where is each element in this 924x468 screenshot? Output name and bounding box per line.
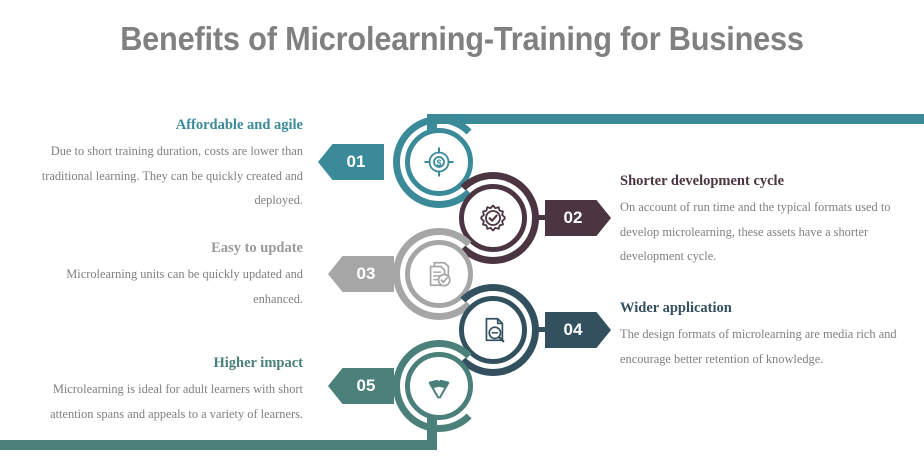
item-number-05: 05 (357, 376, 376, 396)
item-body-04: The design formats of microlearning are … (620, 322, 898, 370)
item-number-02: 02 (564, 208, 583, 228)
top-rail (437, 114, 924, 124)
item-heading-01: Affordable and agile (33, 117, 303, 134)
item-block-04: Wider application The design formats of … (620, 300, 898, 371)
crossed-flags-icon (415, 362, 463, 410)
item-body-01: Due to short training duration, costs ar… (33, 139, 303, 212)
bottom-rail (0, 440, 437, 450)
item-number-badge-02[interactable]: 02 (545, 200, 611, 236)
item-number-badge-03[interactable]: 03 (328, 256, 394, 292)
item-number-01: 01 (347, 152, 366, 172)
item-number-03: 03 (357, 264, 376, 284)
item-heading-02: Shorter development cycle (620, 173, 898, 190)
item-number-badge-05[interactable]: 05 (328, 368, 394, 404)
page-title: Benefits of Microlearning-Training for B… (32, 20, 891, 58)
item-number-badge-01[interactable]: 01 (318, 144, 384, 180)
infographic-slide: Benefits of Microlearning-Training for B… (0, 0, 924, 468)
item-heading-04: Wider application (620, 300, 898, 317)
item-number-badge-04[interactable]: 04 (545, 312, 611, 348)
item-block-03: Easy to update Microlearning units can b… (33, 240, 303, 311)
svg-text:$: $ (436, 158, 441, 168)
item-block-01: Affordable and agile Due to short traini… (33, 117, 303, 212)
item-heading-05: Higher impact (33, 355, 303, 372)
item-node-05[interactable] (393, 340, 485, 432)
item-body-05: Microlearning is ideal for adult learner… (33, 377, 303, 425)
item-number-04: 04 (564, 320, 583, 340)
item-heading-03: Easy to update (33, 240, 303, 257)
item-block-02: Shorter development cycle On account of … (620, 173, 898, 268)
item-body-02: On account of run time and the typical f… (620, 195, 898, 268)
item-body-03: Microlearning units can be quickly updat… (33, 262, 303, 310)
item-block-05: Higher impact Microlearning is ideal for… (33, 355, 303, 426)
